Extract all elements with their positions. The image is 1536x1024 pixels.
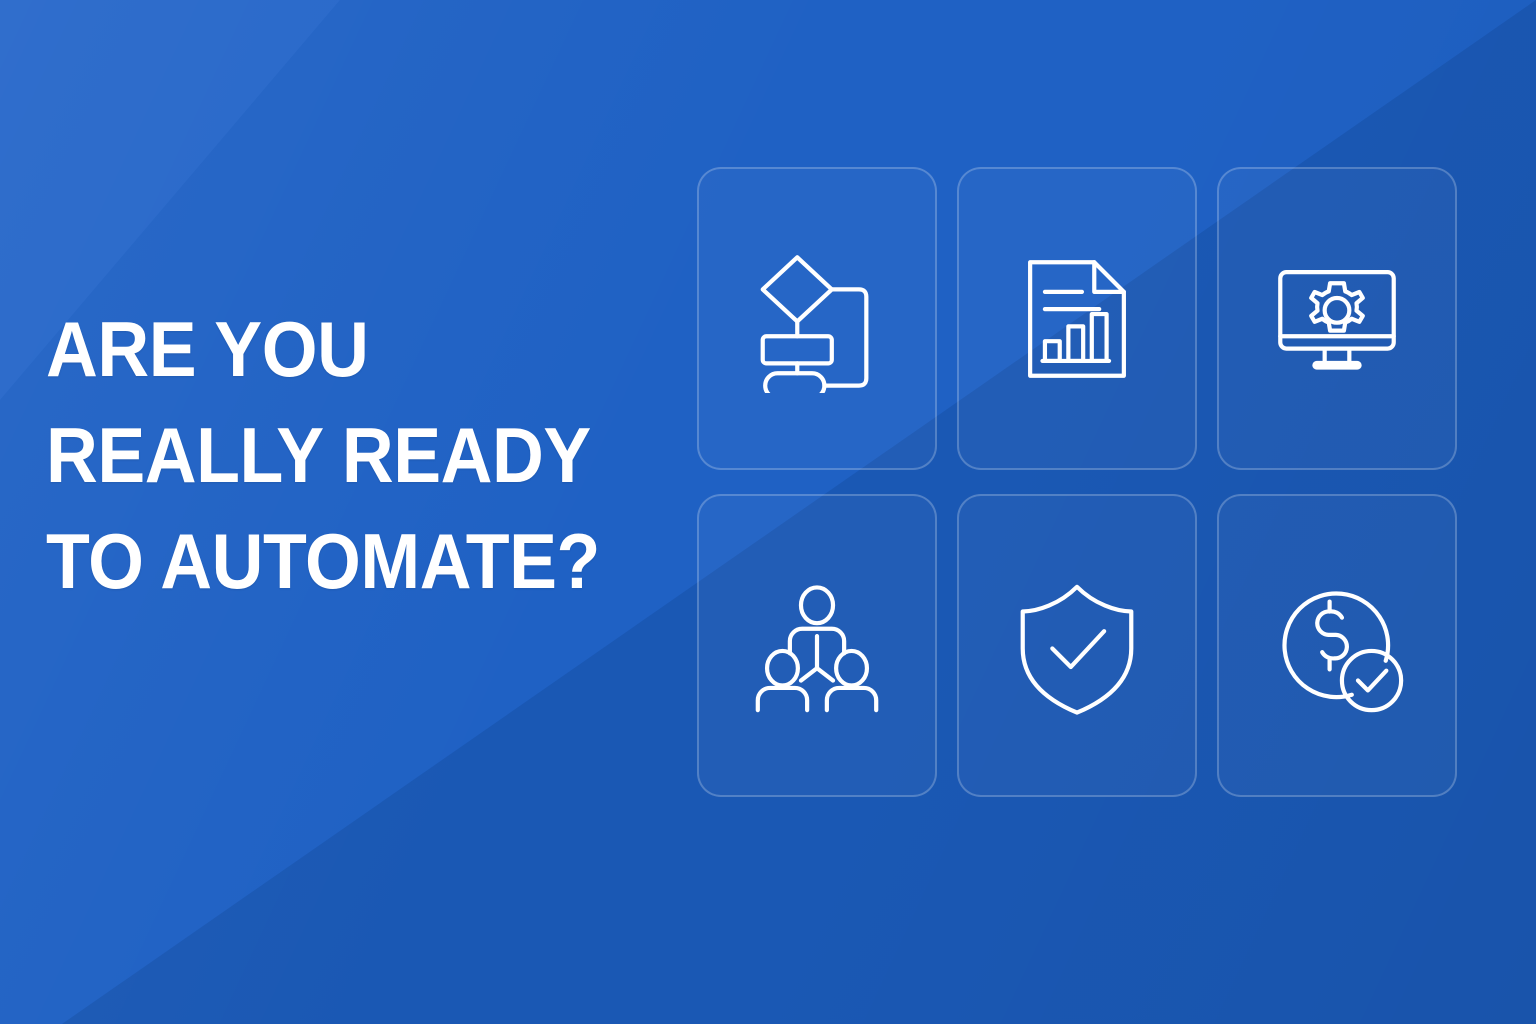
icon-tile-shield-check — [957, 494, 1197, 797]
icon-tile-monitor-gear — [1217, 167, 1457, 470]
headline-line-2: REALLY READY — [46, 402, 653, 508]
icon-tile-document-report — [957, 167, 1197, 470]
headline-block: ARE YOU REALLY READY TO AUTOMATE? — [46, 296, 706, 614]
banner-canvas: ARE YOU REALLY READY TO AUTOMATE? — [0, 0, 1536, 1024]
icon-tile-team — [697, 494, 937, 797]
team-org-chart-icon — [743, 572, 891, 720]
monitor-gear-icon — [1263, 245, 1411, 393]
shield-check-icon — [1003, 572, 1151, 720]
icon-tile-cost-roi — [1217, 494, 1457, 797]
icon-grid — [697, 167, 1457, 797]
headline-line-1: ARE YOU — [46, 296, 653, 402]
document-report-chart-icon — [1003, 245, 1151, 393]
icon-tile-workflow — [697, 167, 937, 470]
dollar-coin-check-icon — [1263, 572, 1411, 720]
workflow-diagram-icon — [743, 245, 891, 393]
headline-line-3: TO AUTOMATE? — [46, 508, 653, 614]
